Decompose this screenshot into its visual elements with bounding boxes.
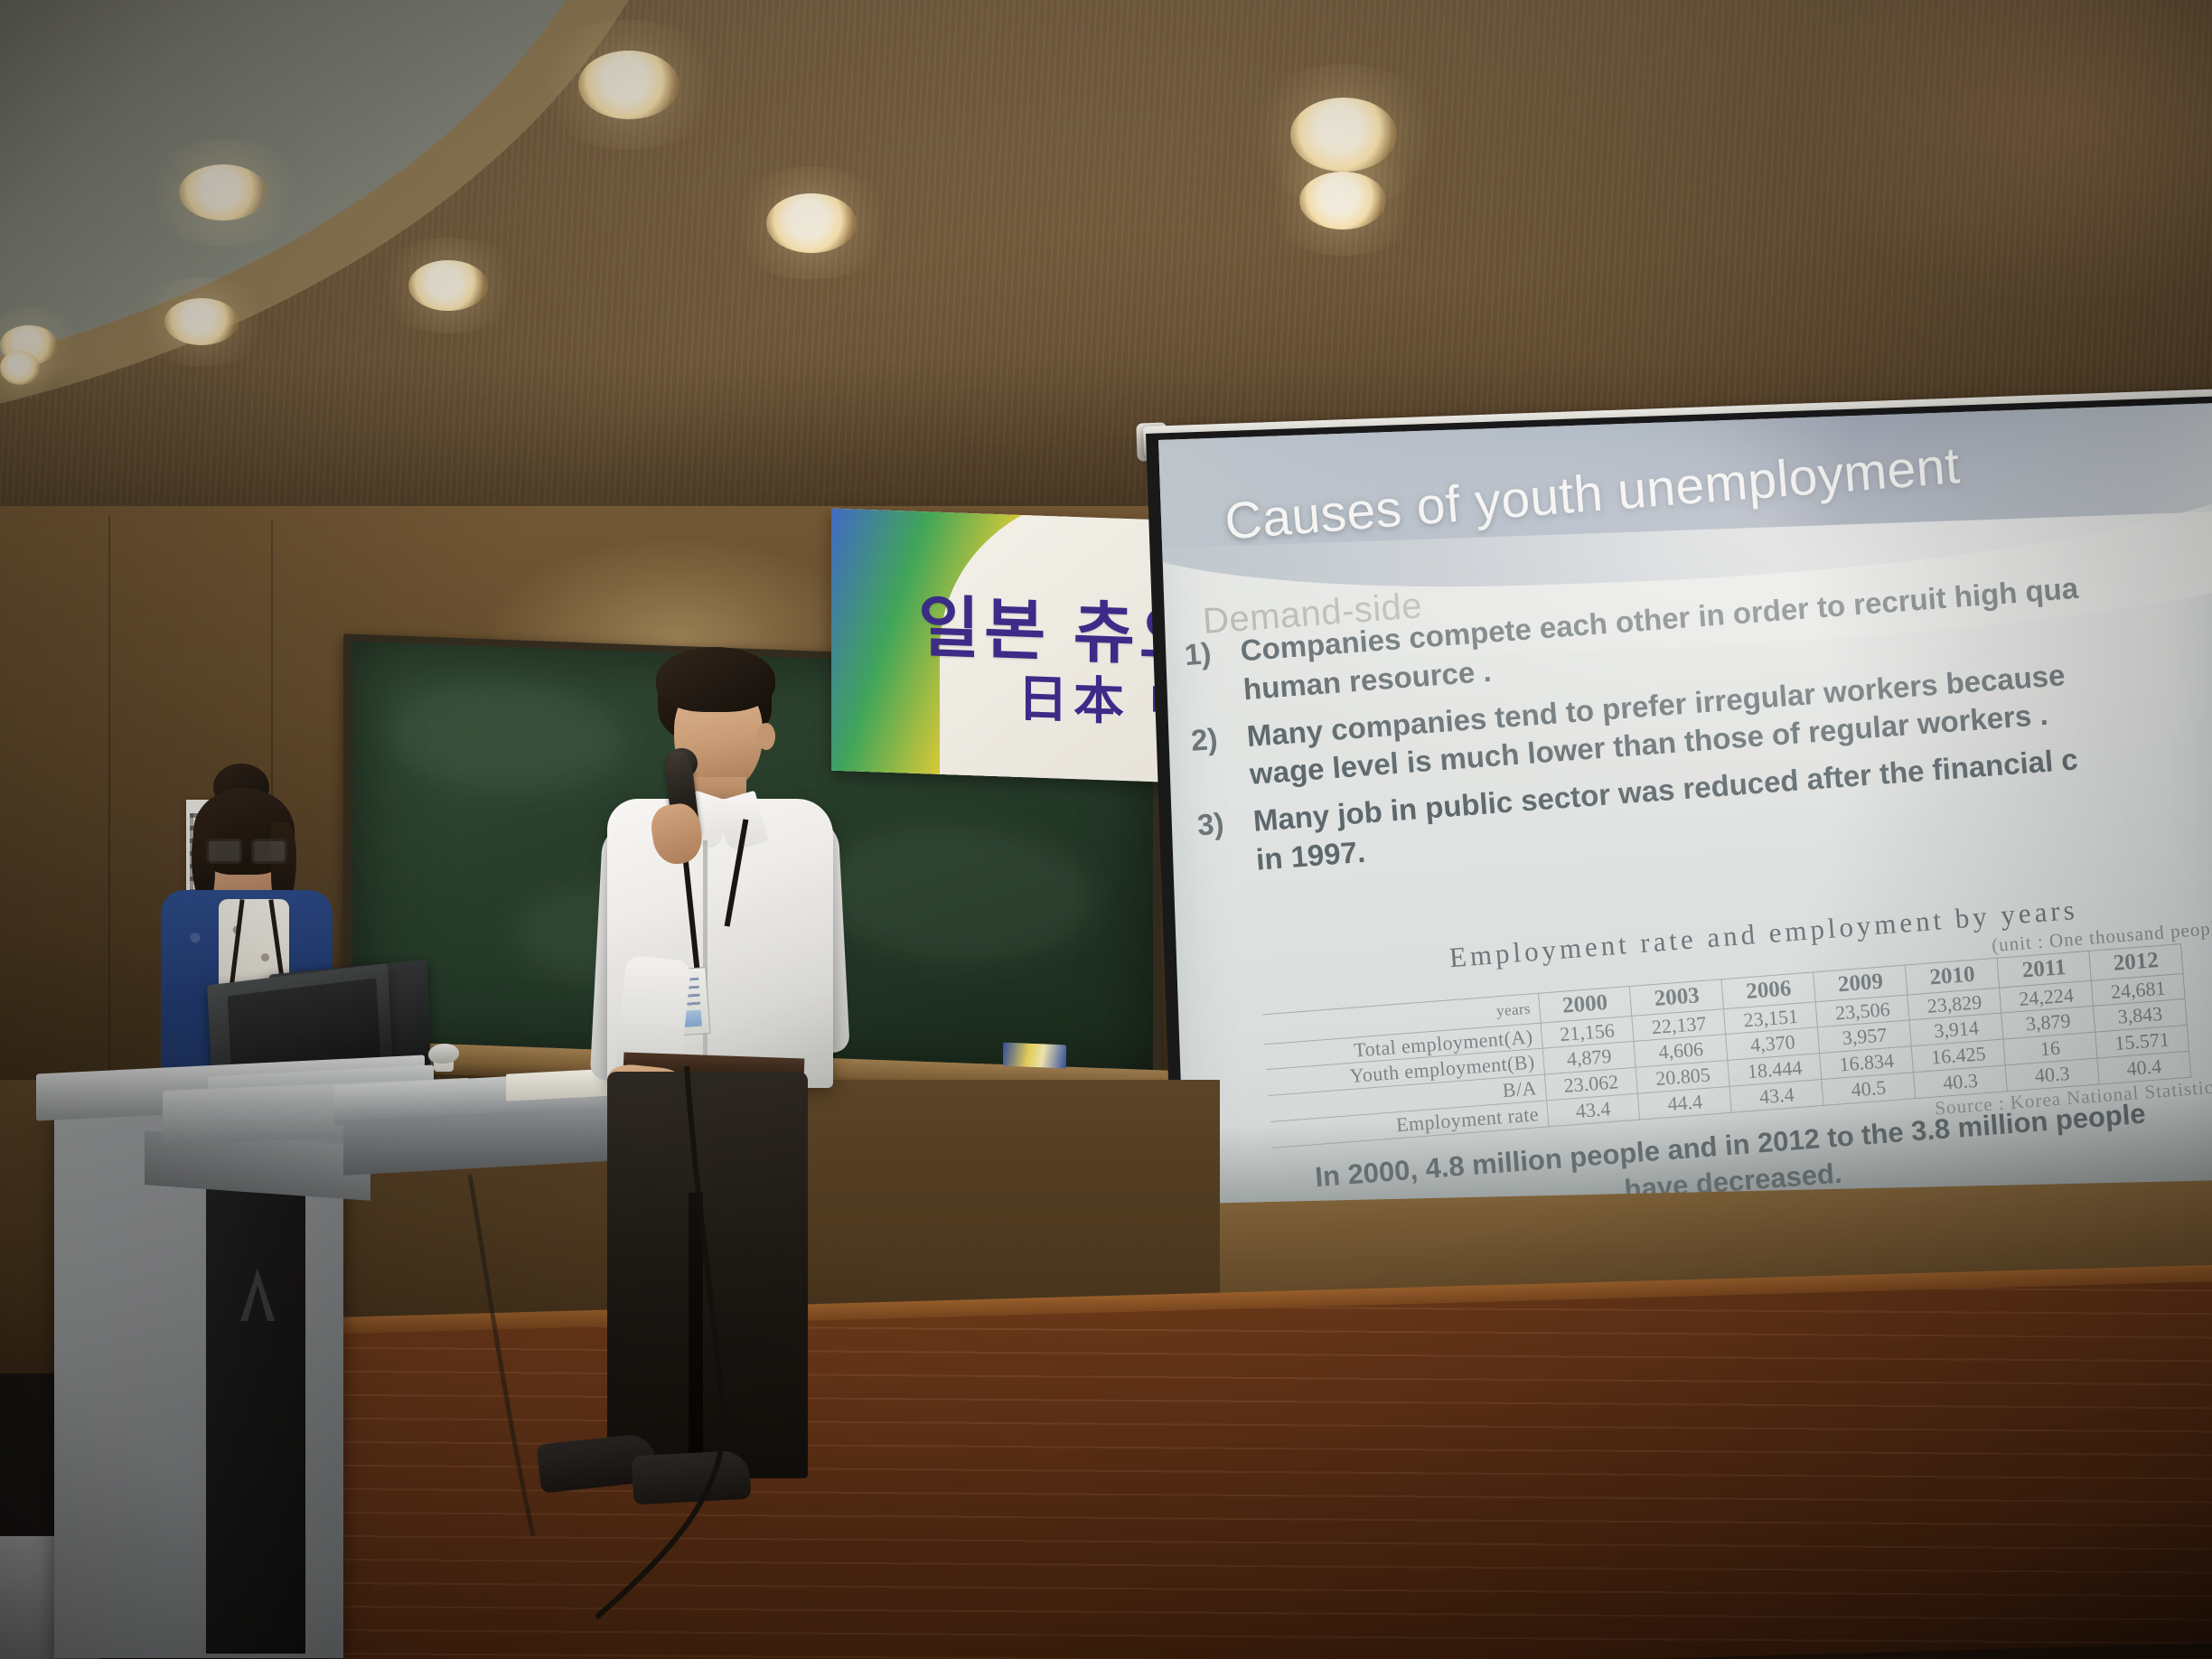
podium-front-panel	[206, 1148, 305, 1654]
shoe-right	[632, 1450, 752, 1505]
dark-trousers	[607, 1072, 808, 1478]
ceiling-downlight-icon	[179, 164, 267, 220]
lecture-hall-photo: 일본 츄오 日本 中 Causes of youth unemployment …	[0, 0, 2212, 1659]
shirt-placket	[703, 840, 708, 1083]
podium-logo-icon	[233, 1265, 282, 1325]
wall-panel-seam	[108, 515, 110, 1075]
glasses-icon	[206, 839, 284, 860]
hair-fringe	[656, 647, 775, 712]
screen-hotspot	[1158, 403, 2212, 862]
trouser-leg-gap	[689, 1193, 703, 1482]
projection-screen: Causes of youth unemployment Demand-side…	[1158, 403, 2212, 1279]
ear	[757, 723, 775, 750]
ceiling-downlight-icon	[766, 193, 857, 253]
ceiling-downlight-icon	[578, 51, 680, 119]
ceiling-downlight-icon	[408, 260, 488, 311]
chalk-box	[1003, 1043, 1066, 1069]
stage-floor-grain	[163, 1281, 2212, 1659]
ceiling-downlight-icon	[164, 298, 239, 345]
ceiling-downlight-icon	[1299, 172, 1386, 230]
wall-sconce-icon	[0, 351, 40, 385]
